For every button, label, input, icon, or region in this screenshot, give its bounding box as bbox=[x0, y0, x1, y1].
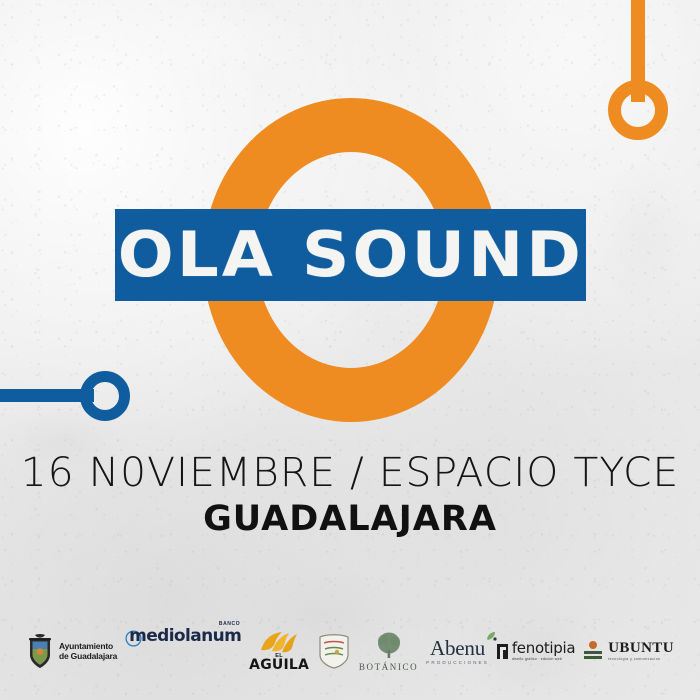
sponsor-real-casa-badge bbox=[317, 628, 351, 674]
sponsor-abenu-producciones: Abenu PRODUCCIONES bbox=[426, 628, 489, 674]
sponsor-banco-mediolanum: mediolanumBANCO bbox=[125, 628, 241, 674]
brand-name: OLA SOUND bbox=[117, 224, 583, 286]
eagle-icon bbox=[258, 631, 300, 653]
coat-of-arms-icon bbox=[26, 633, 54, 669]
sponsor-ayuntamiento-de-guadalajara: Ayuntamiento de Guadalajara bbox=[26, 628, 117, 674]
sponsor-botanico: BOTÁNICO bbox=[359, 628, 418, 674]
sponsor-fenotipia-sub: diseño gráfico · edición web bbox=[512, 657, 562, 661]
sponsor-mediolanum-name: mediolanumBANCO bbox=[129, 628, 241, 645]
tube-station-ring-left-icon bbox=[80, 371, 130, 421]
sponsor-ubuntu: UBUNTU tecnologia y comunicacion bbox=[583, 628, 674, 674]
roundel-name-bar: OLA SOUND bbox=[115, 209, 586, 301]
event-date-venue: 16 N0VIEMBRE / ESPACIO TYCE bbox=[0, 452, 700, 495]
tree-icon bbox=[373, 631, 405, 661]
sponsor-strip: Ayuntamiento de Guadalajara mediolanumBA… bbox=[0, 620, 700, 682]
sponsor-ayuntamiento-line1: Ayuntamiento bbox=[59, 641, 113, 651]
sponsor-ubuntu-name: UBUNTU bbox=[608, 641, 674, 656]
shield-badge-icon bbox=[317, 632, 351, 670]
tube-station-ring-top-icon bbox=[608, 80, 668, 140]
fenotipia-mark-icon bbox=[497, 644, 508, 659]
event-details: 16 N0VIEMBRE / ESPACIO TYCE GUADALAJARA bbox=[0, 452, 700, 538]
leaf-icon bbox=[485, 630, 497, 642]
sponsor-ubuntu-sub: tecnologia y comunicacion bbox=[608, 657, 660, 661]
sponsor-aguila-name: AGUILA bbox=[249, 658, 309, 672]
sponsor-fenotipia: fenotipia diseño gráfico · edición web bbox=[497, 628, 575, 674]
sponsor-botanico-name: BOTÁNICO bbox=[359, 662, 418, 672]
sponsor-mediolanum-superscript: BANCO bbox=[219, 622, 240, 627]
sponsor-abenu-sub: PRODUCCIONES bbox=[426, 660, 489, 665]
sponsor-abenu-name: Abenu bbox=[430, 638, 485, 659]
ubuntu-mark-icon bbox=[583, 640, 603, 662]
sponsor-ayuntamiento-line2: de Guadalajara bbox=[59, 651, 117, 661]
sponsor-fenotipia-name: fenotipia bbox=[512, 641, 575, 656]
sponsor-el-aguila: EL AGUILA bbox=[249, 628, 309, 674]
event-poster: OLA SOUND 16 N0VIEMBRE / ESPACIO TYCE GU… bbox=[0, 0, 700, 700]
event-city: GUADALAJARA bbox=[0, 501, 700, 538]
